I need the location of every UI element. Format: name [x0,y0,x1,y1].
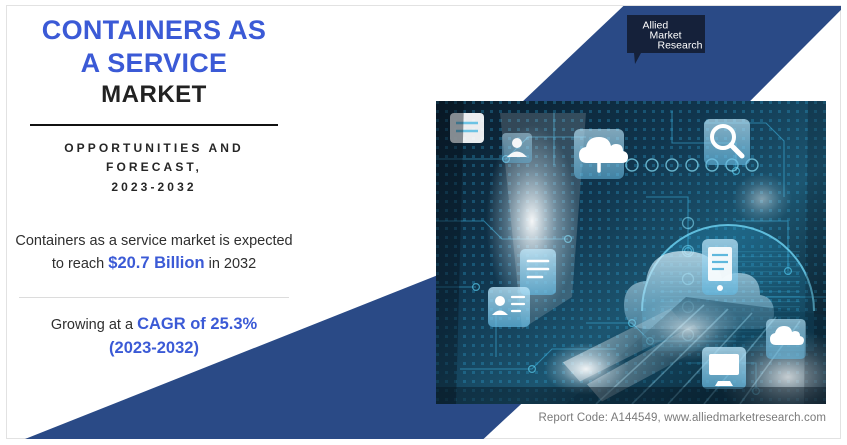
infographic-card: CONTAINERS AS A SERVICE MARKET OPPORTUNI… [0,0,847,445]
user-icon [502,133,532,163]
cagr-value: CAGR of 25.3% [137,315,257,333]
cagr-statement: Growing at a CAGR of 25.3% (2023-2032) [14,313,294,360]
subtitle-line-3: 2023-2032 [111,180,196,194]
cagr-prefix: Growing at a [51,317,133,333]
market-value-suffix: in 2032 [209,256,257,272]
title-line-2: A SERVICE [81,48,228,78]
headline-column: CONTAINERS AS A SERVICE MARKET OPPORTUNI… [14,14,294,360]
cloud-upload-icon [574,129,628,179]
hero-illustration [436,101,826,404]
subtitle-line-2: FORECAST, [106,160,202,174]
footer: Report Code: A144549, www.alliedmarketre… [436,412,826,424]
market-value: $20.7 Billion [108,254,204,272]
subtitle-line-1: OPPORTUNITIES AND [64,141,244,155]
cloud-small-icon [766,319,806,359]
report-code-text: Report Code: A144549, www.alliedmarketre… [538,412,826,424]
search-icon [704,119,750,165]
mobile-device-icon [702,239,738,295]
contact-card-icon [488,287,530,327]
subtitle: OPPORTUNITIES AND FORECAST, 2023-2032 [14,139,294,197]
logo-icon: Allied Market Research [625,13,707,66]
monitor-icon [702,347,746,389]
cagr-period: (2023-2032) [109,339,199,357]
page-title: CONTAINERS AS A SERVICE MARKET [14,14,294,110]
title-line-3: MARKET [14,80,294,110]
title-divider [30,124,278,126]
allied-market-research-logo[interactable]: Allied Market Research [625,13,707,66]
market-value-statement: Containers as a service market is expect… [14,231,294,275]
hero-image [436,101,826,404]
logo-word-3: Research [658,40,703,52]
title-line-1: CONTAINERS AS [42,15,266,45]
stats-divider [19,297,289,298]
